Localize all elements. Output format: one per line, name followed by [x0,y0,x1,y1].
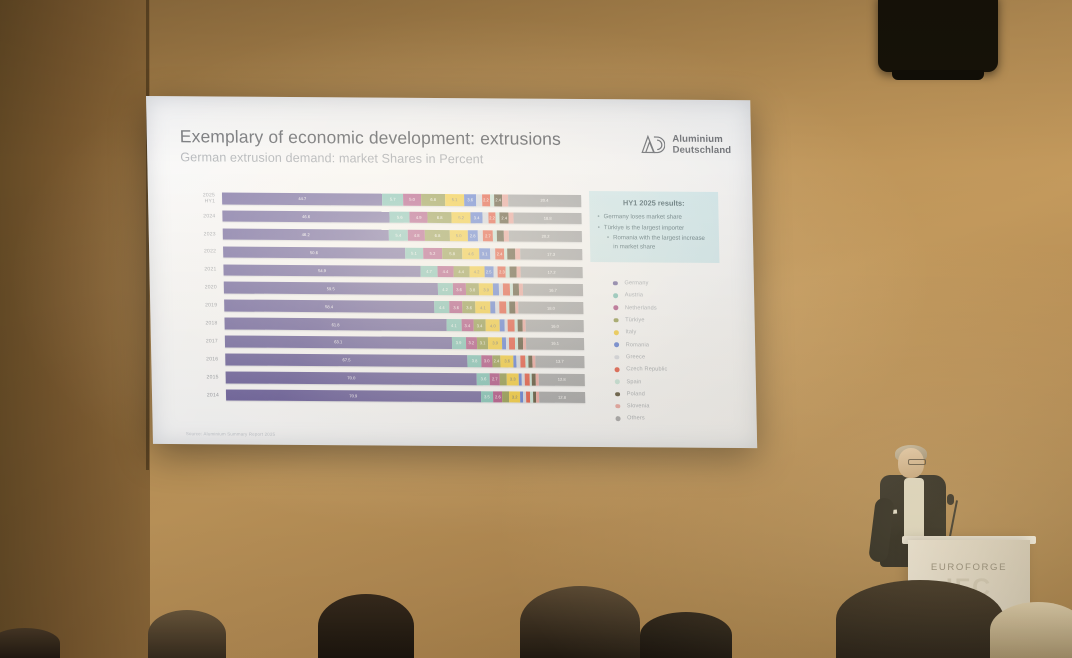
chart-row-label: 2015 [185,374,226,380]
bar-segment: 2.2 [482,194,490,206]
bar-segment: 3.4 [461,319,473,331]
chart-row: 202446.65.64.96.85.23.42.22.418.8 [181,208,581,226]
bar-segment: 3.3 [507,373,519,385]
legend-item: Austria [607,289,720,302]
ceiling-speaker-icon [878,0,998,72]
chart-row: 201763.13.93.23.13.916.1 [184,333,584,351]
audience-head [836,580,1004,658]
bar-segment: 3.4 [470,212,482,224]
legend-item: Others [609,412,722,425]
legend-item: Slovenia [609,400,722,413]
legend-color-swatch [615,392,620,397]
legend-label: Others [627,416,645,422]
stacked-bar: 67.53.83.02.43.613.7 [225,353,584,367]
audience-head [0,628,60,658]
bar-segment: 20.4 [508,194,581,206]
bar-segment: 50.6 [223,246,405,259]
source-note: Source: Aluminium Summary Report 2025 [186,431,276,437]
bar-segment: 46.2 [223,228,389,241]
chart-row-label: 2021 [182,267,223,273]
callout-item: •Romania with the largest increase in ma… [607,235,711,252]
bar-segment: 3.6 [463,301,476,313]
legend-item: Germany [607,277,720,290]
chart-row: 202250.65.15.25.84.63.12.417.3 [182,244,582,262]
bar-segment: 54.9 [223,264,420,277]
bullet-dash-icon: • [607,235,609,251]
stacked-bar: 58.44.43.63.64.118.0 [224,300,583,314]
bar-segment: 5.6 [390,212,410,224]
bar-segment: 4.2 [469,266,484,278]
bar-segment: 18.8 [514,212,582,224]
bar-segment: 4.6 [463,248,480,260]
bar-segment: 3.1 [477,337,488,349]
side-wall [0,0,150,658]
legend-label: Italy [625,330,636,336]
bar-segment: 3.9 [488,337,502,349]
chart-row-label: 2022 [182,249,223,255]
bar-segment: 20.2 [509,230,582,242]
legend-label: Greece [626,354,645,360]
stacked-bar: 54.94.74.44.44.22.52.317.2 [223,264,582,278]
bar-segment: 16.1 [526,338,584,350]
chart-row: 201667.53.83.02.43.613.7 [184,351,584,369]
bar-segment: 4.8 [408,230,425,242]
legend-color-swatch [615,367,620,372]
stacked-bar: 46.65.64.96.85.23.42.22.418.8 [222,210,581,224]
bar-segment: 4.4 [437,266,453,278]
logo-text: Aluminium Deutschland [672,134,731,157]
legend-item: Italy [608,326,721,339]
stacked-bar: 50.65.15.25.84.63.12.417.3 [223,246,582,260]
bar-segment: 2.4 [494,194,503,206]
presenter-shirt [904,478,924,540]
audience-head [520,586,640,658]
audience-head [148,610,226,658]
bar-segment: 4.4 [434,301,450,313]
legend-item: Türkiye [607,314,720,327]
stacked-bar: 46.25.44.86.85.02.82.720.2 [223,228,582,242]
audience-head [640,612,732,658]
logo-mark-icon [636,134,665,156]
legend-label: Romania [626,342,650,348]
slide: Exemplary of economic development: extru… [146,96,757,448]
chart-row-label: 2018 [184,320,225,326]
bar-segment: 5.4 [389,229,409,241]
legend-color-swatch [615,404,620,409]
legend-label: Czech Republic [626,366,667,372]
bar-segment: 46.6 [222,210,390,223]
legend-item: Romania [608,339,721,352]
legend-label: Slovenia [627,403,650,409]
chart-row-label: 2023 [182,231,223,237]
legend-item: Greece [608,351,721,364]
bullet-dash-icon: • [597,213,599,221]
legend-color-swatch [615,379,620,384]
bar-segment: 3.2 [465,337,477,349]
bar-segment: 4.2 [437,283,452,295]
bar-segment: 3.5 [481,391,494,403]
hy1-results-callout: HY1 2025 results: •Germany loses market … [589,191,719,263]
chart-row-label: 2014 [185,392,226,398]
bar-segment: 17.2 [521,266,583,278]
bar-segment: 4.1 [446,319,461,331]
bar-segment: 2.6 [493,391,503,403]
bar-segment: 67.5 [225,353,468,366]
bar-segment: 2.3 [498,266,506,278]
bar-segment: 6.8 [427,212,452,224]
callout-item-label: Türkiye is the largest importer [604,224,684,233]
microphone-icon [947,494,954,505]
bar-segment: 3.4 [473,319,485,331]
chart-row: 201861.84.13.43.44.016.0 [183,315,583,333]
bar-segment: 13.7 [535,356,584,368]
bar-segment: 3.6 [477,373,490,385]
legend-item: Czech Republic [608,363,721,376]
bar-segment: 3.1 [479,248,490,260]
stacked-bar: 59.54.23.63.83.916.7 [224,282,583,296]
bar-segment: 61.8 [224,318,446,331]
callout-item: •Türkiye is the largest importer [598,224,711,233]
bar-segment: 5.1 [445,194,464,206]
glasses-icon [908,459,926,465]
chart-row-label: 2020 [183,284,224,290]
audience-head [990,602,1072,658]
legend-label: Poland [627,391,645,397]
bar-segment: 5.1 [405,247,424,259]
bar-segment: 4.9 [410,212,428,224]
chart-row: 201470.93.52.63.212.8 [185,387,585,405]
bar-segment: 2.7 [490,373,500,385]
bar-segment: 2.4 [500,212,509,224]
bar-segment: 5.2 [423,248,442,260]
callout-title: HY1 2025 results: [597,198,710,208]
chart-row: 202154.94.74.44.44.22.52.317.2 [182,262,582,280]
bar-segment: 12.8 [539,374,585,386]
bar-segment: 63.1 [225,336,452,349]
callout-item-label: Germany loses market share [604,213,682,222]
legend-color-swatch [614,330,619,335]
bar-segment: 5.0 [450,230,468,242]
legend-item: Spain [609,376,722,389]
bullet-dash-icon: • [598,224,600,232]
legend-label: Türkiye [625,317,645,323]
stacked-bar: 63.13.93.23.13.916.1 [225,336,584,350]
chart-row-label: 2017 [184,338,225,344]
bar-segment: 4.7 [421,265,438,277]
legend-label: Spain [626,379,641,385]
podium-brand-label: EUROFORGE [908,562,1030,573]
legend-color-swatch [613,306,618,311]
legend-color-swatch [613,281,618,286]
bar-segment: 3.9 [479,284,493,296]
bar-segment: 3.0 [481,355,492,367]
bar-segment: 2.8 [468,230,478,242]
chart-row-label: 2025HY1 [181,192,222,204]
bar-segment: 16.0 [526,320,584,332]
stacked-bar-chart: 2025HY144.75.75.06.85.13.62.22.420.42024… [181,190,585,407]
bar-segment: 44.7 [222,192,383,205]
chart-row: 202346.25.44.86.85.02.82.720.2 [182,226,582,244]
stacked-bar: 70.03.62.73.312.8 [226,371,585,385]
legend-color-swatch [614,343,619,348]
chart-row-label: 2016 [184,356,225,362]
bar-segment: 70.9 [226,389,481,402]
conference-photo-scene: Exemplary of economic development: extru… [0,0,1072,658]
chart-row: 2025HY144.75.75.06.85.13.62.22.420.4 [181,190,581,208]
chart-row: 202059.54.23.63.83.916.7 [183,280,583,298]
callout-item: •Germany loses market share [597,213,710,222]
legend-color-swatch [616,416,621,421]
chart-legend: GermanyAustriaNetherlandsTürkiyeItalyRom… [607,277,723,425]
chart-row-label: 2019 [183,302,224,308]
bar-segment: 3.6 [464,194,477,206]
bar-segment: 16.7 [523,284,583,296]
logo-line-1: Aluminium [672,134,731,146]
bar-segment: 3.8 [465,284,479,296]
bar-segment: 4.0 [486,320,501,332]
stacked-bar: 70.93.52.63.212.8 [226,389,585,403]
bar-segment: 18.0 [518,302,583,314]
bar-segment: 5.0 [403,194,421,206]
bar-segment: 2.2 [488,212,496,224]
legend-item: Poland [609,388,722,401]
projection-screen: Exemplary of economic development: extru… [146,96,757,448]
legend-color-swatch [614,355,619,360]
bar-segment: 3.6 [450,301,463,313]
legend-label: Netherlands [625,305,657,311]
bar-segment: 4.4 [453,266,469,278]
bar-segment: 3.6 [452,284,465,296]
bar-segment: 58.4 [224,300,434,313]
bar-segment: 4.1 [475,302,490,314]
audience-head [318,594,414,658]
bar-segment: 2.5 [484,266,493,278]
logo-line-2: Deutschland [672,145,731,157]
callout-item-label: Romania with the largest increase in mar… [613,235,711,252]
bar-segment: 5.8 [442,248,463,260]
bar-segment: 2.4 [492,355,501,367]
bar-segment: 70.0 [226,371,478,384]
legend-color-swatch [614,318,619,323]
legend-color-swatch [613,293,618,298]
chart-row-label: 2024 [181,213,222,219]
chart-row: 201958.44.43.63.64.118.0 [183,298,583,316]
bar-segment: 3.9 [451,337,465,349]
bar-segment: 3.6 [501,355,514,367]
stacked-bar: 44.75.75.06.85.13.62.22.420.4 [222,192,581,206]
legend-item: Netherlands [607,302,720,315]
chart-row: 201570.03.62.73.312.8 [184,369,584,387]
bar-segment: 3.2 [509,391,521,403]
bar-segment: 3.8 [468,355,482,367]
bar-segment: 59.5 [224,282,438,295]
bar-segment: 6.8 [425,230,450,242]
callout-item-list: •Germany loses market share•Türkiye is t… [597,213,711,252]
bar-segment: 17.3 [520,248,582,260]
bar-segment: 12.8 [539,391,585,403]
legend-label: Austria [625,293,644,299]
legend-label: Germany [624,280,648,286]
aluminium-deutschland-logo: Aluminium Deutschland [636,133,731,156]
bar-segment: 2.4 [495,248,504,260]
bar-segment: 5.7 [382,194,403,206]
bar-segment: 6.8 [421,194,446,206]
stacked-bar: 61.84.13.43.44.016.0 [224,318,583,332]
bar-segment: 2.7 [483,230,493,242]
bar-segment: 5.2 [452,212,471,224]
